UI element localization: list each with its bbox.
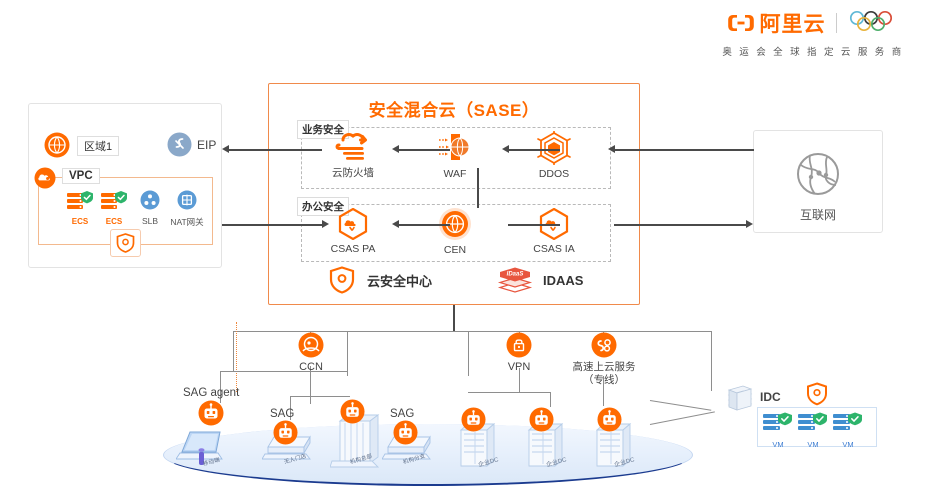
sase-panel: 安全混合云（SASE） 业务安全 云防火墙 WAF: [268, 83, 640, 305]
eip-icon: [167, 132, 192, 162]
arrowhead-left-top: [222, 145, 229, 153]
express-connect-node: 高速上云服务 （专线）: [566, 332, 642, 387]
csas-pa-label: CSAS PA: [308, 243, 398, 256]
vpc-security-shield: [110, 229, 141, 257]
vm-icon: [797, 412, 829, 434]
express-connect-label: 高速上云服务 （专线）: [566, 361, 642, 387]
arrowhead-region-csaspa: [322, 220, 329, 228]
link-ddos-to-waf: [508, 149, 560, 151]
vpc-label: VPC: [62, 168, 100, 184]
vm-label-3: VM: [832, 440, 864, 449]
arrowhead-internet-ddos: [608, 145, 615, 153]
sag-badge-icon-6: [597, 407, 622, 437]
csas-ia-label: CSAS IA: [509, 243, 599, 256]
ddos-node: DDOS: [509, 131, 599, 181]
link-region-to-csas-pa: [222, 224, 322, 226]
vpn-icon: [506, 332, 532, 358]
idaas-icon: IDaaS: [497, 266, 533, 294]
link-cen-to-csas-ia: [508, 224, 560, 226]
security-shield-icon: [806, 382, 828, 406]
csas-ia-node: CSAS IA: [509, 208, 599, 256]
sag-badge-icon-1: [273, 420, 298, 450]
csas-pa-node: CSAS PA: [308, 208, 398, 256]
ecs-icon: [66, 190, 94, 214]
ccn-icon: [298, 332, 324, 358]
bus-drop-mid: [468, 331, 469, 376]
security-shield-icon: [116, 233, 135, 253]
bus-drop-idc: [711, 331, 712, 391]
brand-logo: 阿里云 奥 运 会 全 球 指 定 云 服 务 商: [700, 8, 926, 58]
express-connect-icon: [591, 332, 617, 358]
slb-node: SLB: [135, 190, 165, 226]
vpn-branch-right: [550, 392, 551, 407]
idc-server-icon: [725, 384, 755, 418]
sase-title: 安全混合云（SASE）: [269, 96, 639, 121]
cloud-security-center-label: 云安全中心: [367, 271, 432, 290]
ecs-label: ECS: [97, 217, 131, 226]
waf-node: WAF: [410, 131, 500, 181]
brand-tagline: 奥 运 会 全 球 指 定 云 服 务 商: [700, 44, 926, 58]
alibaba-cloud-logo-icon: 阿里云: [726, 8, 826, 38]
cloud-firewall-node: 云防火墙: [308, 132, 398, 180]
csas-pa-icon: [338, 208, 368, 240]
sag-branch-h: [290, 396, 350, 397]
logo-divider: [836, 13, 837, 33]
idc-label: IDC: [760, 390, 781, 404]
brand-name: 阿里云: [760, 8, 826, 38]
idc-link: [650, 400, 711, 411]
vpn-branch-h: [468, 392, 550, 393]
nat-gateway-node: NAT网关: [165, 190, 209, 228]
ccn-node: CCN: [287, 332, 335, 375]
arrowhead-waf-firewall: [392, 145, 399, 153]
slb-label: SLB: [135, 216, 165, 226]
vpn-label: VPN: [495, 361, 543, 375]
sag-agent-label: SAG agent: [183, 387, 239, 399]
cloud-firewall-icon: [332, 132, 374, 164]
sag-label-1: SAG: [270, 408, 294, 420]
sag-badge-icon-2: [340, 399, 365, 429]
cloud-security-center-node: 云安全中心: [329, 266, 432, 294]
ddos-label: DDOS: [509, 168, 599, 181]
internet-label: 互联网: [754, 206, 882, 223]
link-csas-ia-to-internet: [614, 224, 746, 226]
cen-label: CEN: [410, 244, 500, 257]
link-cen-to-csas-pa: [398, 224, 450, 226]
vpc-icon: [34, 167, 56, 194]
vm-node-1: VM: [762, 412, 794, 449]
idc-server-stack: [725, 384, 755, 423]
internet-globe-icon: [795, 151, 841, 197]
vm-node-3: VM: [832, 412, 864, 449]
vm-icon: [762, 412, 794, 434]
vm-icon: [832, 412, 864, 434]
sag-badge-icon-5: [529, 407, 554, 437]
ccn-label: CCN: [287, 361, 335, 375]
bus-drop-sag1: [347, 331, 348, 376]
idaas-label: IDAAS: [543, 273, 583, 288]
ecs-node-1: ECS: [63, 190, 97, 226]
sag-label-2: SAG: [390, 408, 414, 420]
vm-label-2: VM: [797, 440, 829, 449]
vpn-node: VPN: [495, 332, 543, 375]
cen-node: CEN: [410, 207, 500, 257]
link-firewall-to-region: [228, 149, 322, 151]
arrowhead-csasia-internet: [746, 220, 753, 228]
olympic-rings-icon: [847, 10, 901, 37]
vm-node-2: VM: [797, 412, 829, 449]
ecs-node-2: ECS: [97, 190, 131, 226]
sag-agent-badge-icon: [198, 400, 224, 431]
nat-gateway-icon: [177, 190, 197, 210]
link-waf-to-firewall: [398, 149, 450, 151]
idaas-node: IDaaS IDAAS: [497, 266, 583, 294]
sag-badge-icon-3: [393, 420, 418, 450]
ddos-icon: [536, 131, 572, 165]
internet-panel: 互联网: [753, 130, 883, 233]
arrowhead-ddos-waf: [502, 145, 509, 153]
waf-icon: [436, 131, 474, 165]
bus-drop-sag-agent: [233, 331, 234, 371]
nat-gateway-label: NAT网关: [165, 216, 209, 228]
link-waf-to-cen: [477, 168, 479, 208]
link-internet-to-ddos: [614, 149, 754, 151]
region-label: 区域1: [77, 136, 119, 156]
link-sase-to-bus: [453, 305, 455, 332]
ecs-icon: [100, 190, 128, 214]
idc-link-2: [650, 411, 715, 425]
waf-label: WAF: [410, 168, 500, 181]
svg-text:IDaaS: IDaaS: [507, 272, 524, 278]
cloud-security-center-icon: [329, 266, 355, 294]
arrowhead-cen-csaspa: [392, 220, 399, 228]
eip-label: EIP: [197, 138, 216, 152]
slb-icon: [140, 190, 160, 210]
region-icon: [44, 132, 70, 163]
region-panel: 区域1 EIP VPC ECS: [28, 103, 222, 268]
ecs-label: ECS: [63, 217, 97, 226]
cloud-firewall-label: 云防火墙: [308, 167, 398, 180]
sag-agent-dotted-link: [236, 322, 237, 392]
vm-label-1: VM: [762, 440, 794, 449]
sag-badge-icon-4: [461, 407, 486, 437]
